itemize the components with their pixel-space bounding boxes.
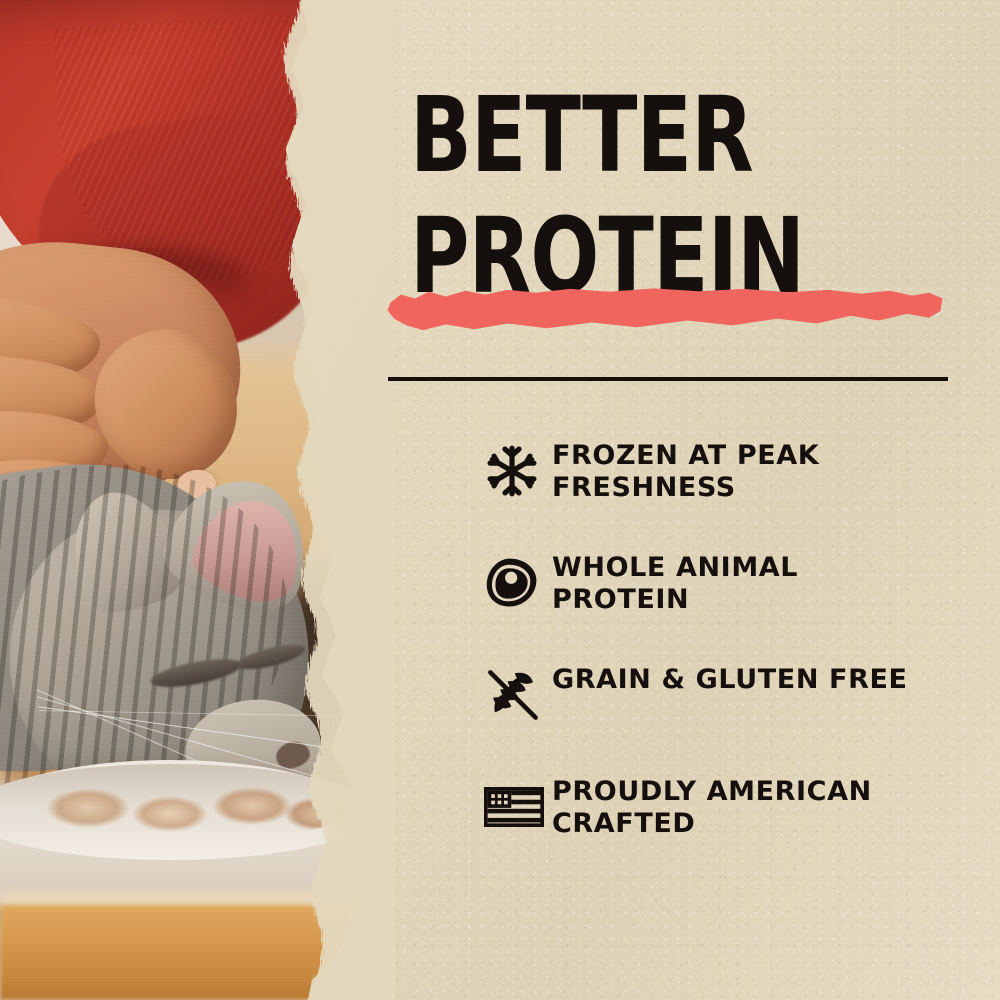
grain-free-icon (484, 662, 552, 726)
list-item-label: FROZEN AT PEAK FRESHNESS (552, 438, 932, 505)
list-item-label: GRAIN & GLUTEN FREE (552, 662, 932, 696)
list-item: PROUDLY AMERICAN CRAFTED (484, 774, 964, 848)
poster-content: BETTER PROTEIN FROZEN (0, 0, 1000, 1000)
feature-list: FROZEN AT PEAK FRESHNESS WHOLE ANIMAL PR… (484, 438, 964, 886)
page-title: BETTER PROTEIN (410, 86, 847, 306)
list-item: WHOLE ANIMAL PROTEIN (484, 550, 964, 624)
snowflake-icon (484, 438, 552, 502)
horizontal-divider (388, 377, 948, 381)
list-item-label: PROUDLY AMERICAN CRAFTED (552, 774, 932, 841)
list-item: FROZEN AT PEAK FRESHNESS (484, 438, 964, 512)
list-item: GRAIN & GLUTEN FREE (484, 662, 964, 736)
poster: BETTER PROTEIN FROZEN (0, 0, 1000, 1000)
american-flag-icon (484, 774, 552, 838)
red-brush-underline (384, 286, 946, 334)
steak-icon (484, 550, 552, 614)
headline-line-1: BETTER (410, 74, 753, 196)
list-item-label: WHOLE ANIMAL PROTEIN (552, 550, 932, 617)
